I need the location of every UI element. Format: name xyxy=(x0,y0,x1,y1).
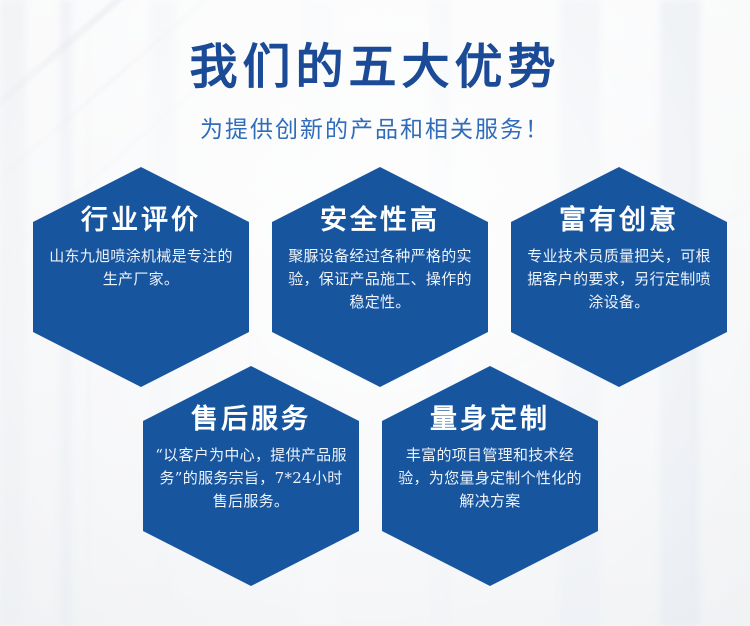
advantage-body: 专业技术员质量把关，可根据客户的要求，另行定制喷涂设备。 xyxy=(522,245,716,313)
advantage-body: 丰富的项目管理和技术经验，为您量身定制个性化的解决方案 xyxy=(393,444,587,512)
banner-heading-block: 我们的五大优势 为提供创新的产品和相关服务！ xyxy=(0,0,750,144)
advantage-title: 行业评价 xyxy=(81,205,201,236)
advantage-body: 聚脲设备经过各种严格的实验，保证产品施工、操作的稳定性。 xyxy=(283,245,477,313)
page-subtitle: 为提供创新的产品和相关服务！ xyxy=(0,110,750,144)
advantage-body: “以客户为中心，提供产品服务”的服务宗旨，7*24小时售后服务。 xyxy=(154,444,348,512)
page-title: 我们的五大优势 xyxy=(0,42,750,92)
advantage-title: 富有创意 xyxy=(559,205,679,236)
advantage-title: 量身定制 xyxy=(430,404,550,435)
advantage-body: 山东九旭喷涂机械是专注的生产厂家。 xyxy=(44,245,238,291)
advantage-title: 安全性高 xyxy=(320,205,440,236)
advantages-banner: 我们的五大优势 为提供创新的产品和相关服务！ 行业评价 山东九旭喷涂机械是专注的… xyxy=(0,0,750,626)
advantage-title: 售后服务 xyxy=(191,404,311,435)
